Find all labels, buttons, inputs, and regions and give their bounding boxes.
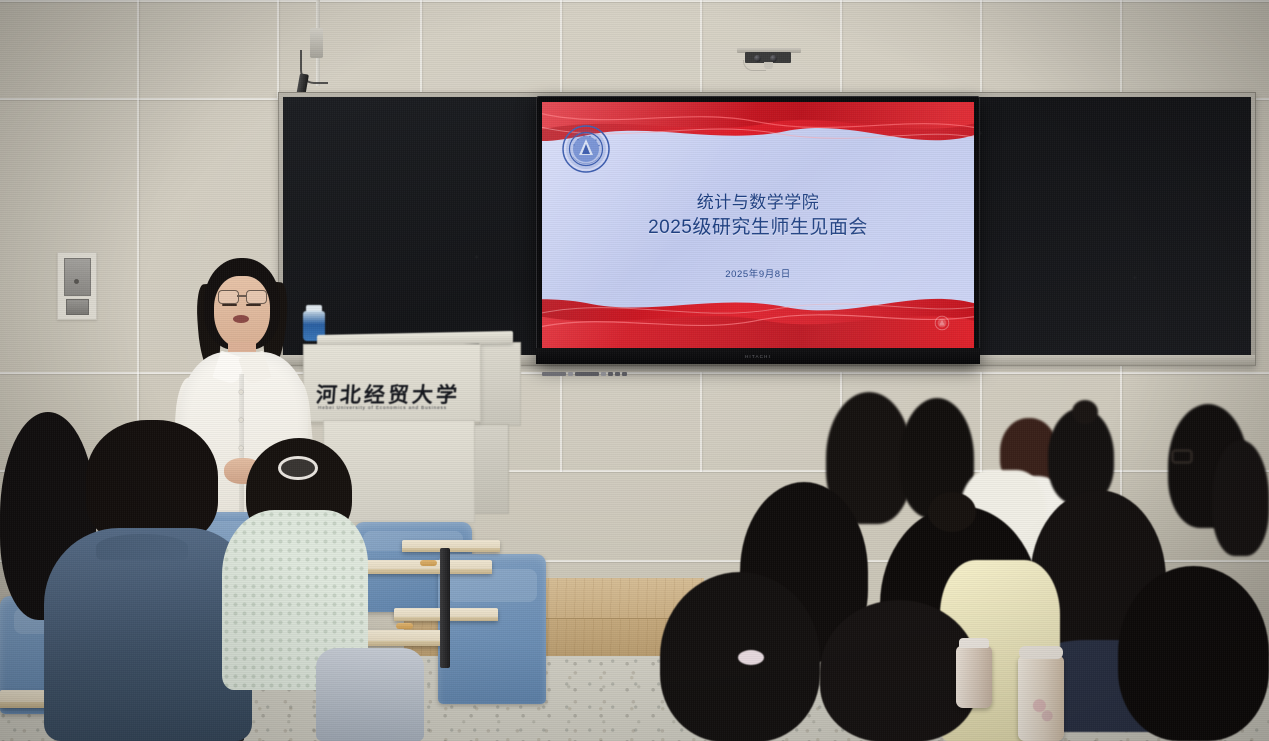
panel-brand-label: HITACHI [745, 354, 771, 359]
eyeglasses-icon [1172, 450, 1192, 463]
lecture-hall-seat[interactable] [438, 554, 546, 704]
wall-camera-unit [737, 48, 801, 60]
seated-student [1118, 566, 1269, 741]
hair-clip [278, 456, 318, 480]
lecture-hall-desk [402, 540, 500, 552]
panel-bottom-bezel: HITACHI [536, 348, 980, 364]
interactive-flat-panel[interactable]: 统计与数学学院 2025级研究生师生见面会 2025年9月8日 HITACHI [536, 96, 980, 364]
desk-support-post [440, 548, 450, 668]
camera-lens-icon [770, 55, 777, 62]
water-tumbler[interactable] [956, 646, 992, 708]
presenter-face [214, 276, 270, 348]
desk-bag-hook[interactable] [396, 623, 413, 629]
water-tumbler[interactable] [1018, 656, 1064, 741]
seated-student [660, 572, 820, 741]
podium-university-name-en: Hebei University of Economics and Busine… [318, 405, 470, 410]
seated-student [1212, 440, 1269, 560]
panel-button[interactable] [74, 279, 79, 284]
seated-student [44, 528, 252, 741]
tumbler-floral-pattern [1029, 692, 1055, 726]
seated-student [316, 648, 424, 741]
panel-screen [64, 258, 91, 296]
eyeglasses-icon [218, 290, 239, 304]
lecture-hall-photo: 统计与数学学院 2025级研究生师生见面会 2025年9月8日 HITACHI [0, 0, 1269, 741]
shirt-collar [96, 534, 188, 560]
presentation-slide: 统计与数学学院 2025级研究生师生见面会 2025年9月8日 [542, 102, 974, 348]
hair-bun [928, 492, 976, 532]
desk-bag-hook[interactable] [420, 560, 437, 566]
panel-control-buttons[interactable] [542, 372, 627, 376]
panel-secondary[interactable] [66, 299, 89, 315]
eyeglasses-icon [246, 290, 267, 304]
wall-control-panel[interactable] [57, 252, 97, 320]
seated-student [820, 600, 978, 741]
hair-bun [1072, 400, 1098, 424]
hair-scrunchie [738, 650, 764, 665]
